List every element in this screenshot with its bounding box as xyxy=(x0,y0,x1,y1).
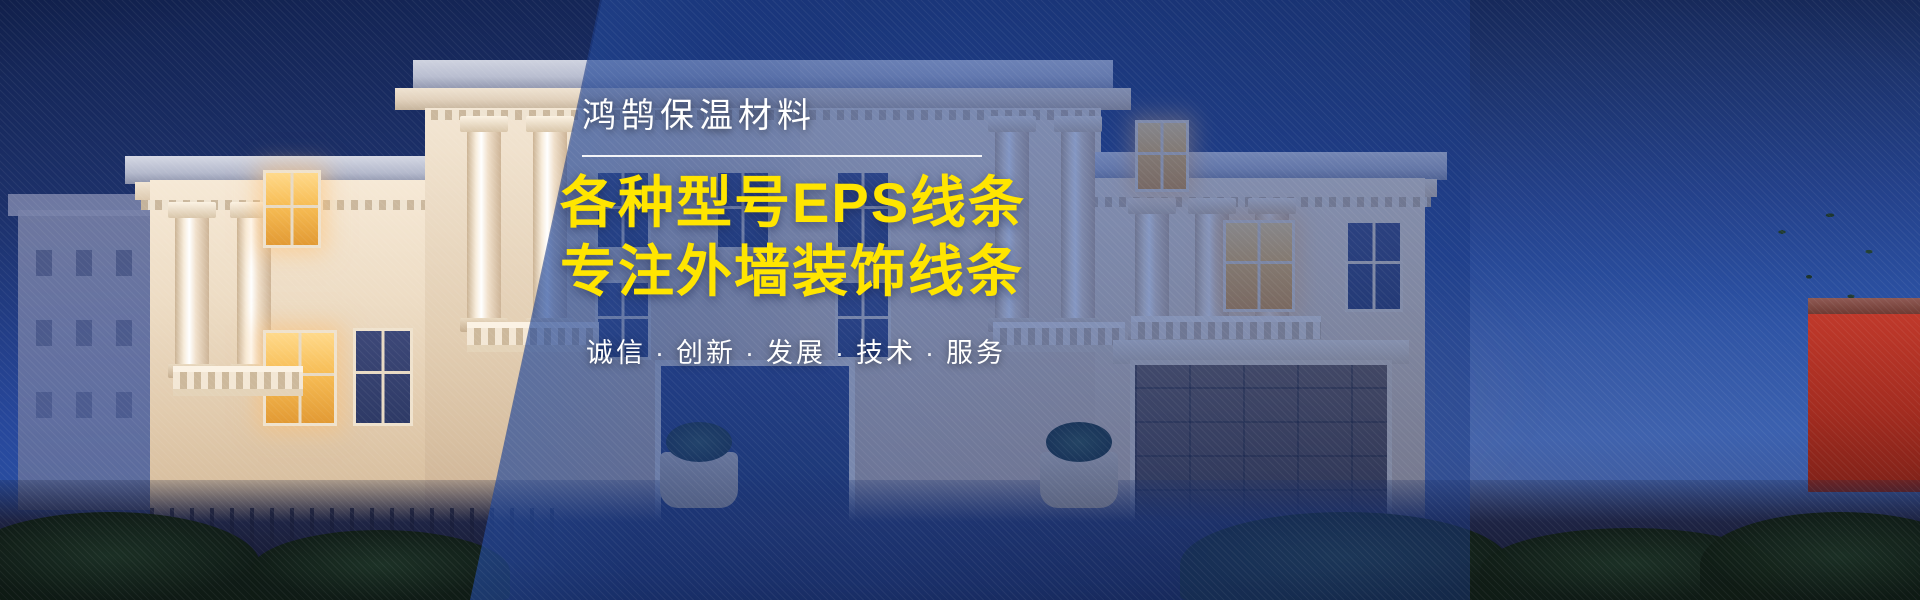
red-structure xyxy=(1808,312,1920,492)
window-lit xyxy=(263,170,321,248)
headline-line-1: 各种型号EPS线条 xyxy=(560,171,1080,236)
headline-line-2: 专注外墙装饰线条 xyxy=(560,240,1080,305)
promo-banner: 鸿鹄保温材料 各种型号EPS线条 专注外墙装饰线条 诚信·创新·发展·技术·服务 xyxy=(0,0,1920,600)
tagline-item: 创新 xyxy=(676,338,736,368)
tagline-separator: · xyxy=(745,338,757,368)
tagline-separator: · xyxy=(925,338,937,368)
balustrade xyxy=(173,366,303,396)
column xyxy=(467,130,501,320)
tagline-item: 技术 xyxy=(856,338,916,368)
brand-name: 鸿鹄保温材料 xyxy=(560,96,1080,137)
tagline-separator: · xyxy=(835,338,847,368)
window xyxy=(353,328,413,426)
divider-rule xyxy=(582,155,982,157)
tree-branch xyxy=(1752,190,1902,330)
banner-copy-block: 鸿鹄保温材料 各种型号EPS线条 专注外墙装饰线条 诚信·创新·发展·技术·服务 xyxy=(560,96,1080,370)
tagline-item: 诚信 xyxy=(586,338,646,368)
column xyxy=(175,216,209,366)
tagline-item: 发展 xyxy=(766,338,826,368)
tagline-item: 服务 xyxy=(946,338,1006,368)
tagline: 诚信·创新·发展·技术·服务 xyxy=(560,331,1080,370)
tagline-separator: · xyxy=(655,338,667,368)
